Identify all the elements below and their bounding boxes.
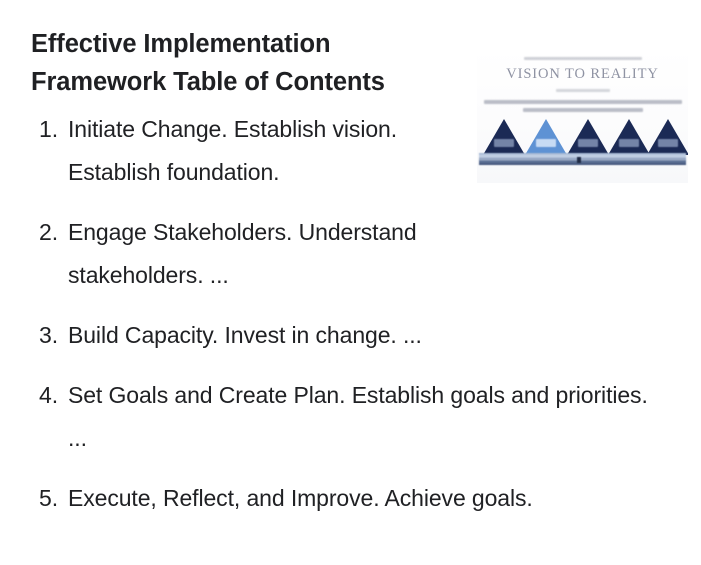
pyramid-diagram <box>477 111 688 167</box>
pyramid-shape-3 <box>567 119 609 155</box>
thumbnail-subtitle-line <box>556 89 610 92</box>
list-item[interactable]: 2. Engage Stakeholders. Understand stake… <box>0 211 701 297</box>
list-item-text: Build Capacity. Invest in change. ... <box>68 314 668 357</box>
triangle-icon <box>647 119 688 155</box>
thumbnail-heading: VISION TO REALITY <box>477 66 688 83</box>
triangle-icon <box>525 119 567 155</box>
list-item-number: 5. <box>39 477 65 520</box>
list-item-text: Execute, Reflect, and Improve. Achieve g… <box>68 477 668 520</box>
pyramid-base-bar-upper <box>479 153 686 160</box>
document-page: Effective Implementation Framework Table… <box>0 0 701 565</box>
thumbnail-eyebrow-text <box>524 57 642 60</box>
pyramid-label-chip <box>494 139 514 147</box>
list-item-number: 4. <box>39 374 65 417</box>
list-item-number: 2. <box>39 211 65 254</box>
pyramid-shape-1 <box>483 119 525 155</box>
thumbnail-canvas: VISION TO REALITY <box>477 48 688 183</box>
pyramid-shape-4 <box>608 119 650 155</box>
pyramid-label-chip <box>536 139 556 147</box>
list-item-text: Engage Stakeholders. Understand stakehol… <box>68 211 428 297</box>
pyramid-base-bar-lower <box>479 160 686 165</box>
vision-to-reality-thumbnail[interactable]: VISION TO REALITY <box>477 48 688 183</box>
pyramid-label-chip <box>619 139 639 147</box>
triangle-icon <box>483 119 525 155</box>
triangle-icon <box>608 119 650 155</box>
pyramid-shape-5 <box>647 119 688 155</box>
list-item[interactable]: 3. Build Capacity. Invest in change. ... <box>0 314 701 357</box>
page-title: Effective Implementation Framework Table… <box>31 25 451 101</box>
list-item[interactable]: 5. Execute, Reflect, and Improve. Achiev… <box>0 477 701 520</box>
list-item[interactable]: 4. Set Goals and Create Plan. Establish … <box>0 374 701 460</box>
thumbnail-body-line <box>484 100 682 104</box>
pyramid-shape-2 <box>525 119 567 155</box>
list-item-number: 1. <box>39 108 65 151</box>
list-item-text: Set Goals and Create Plan. Establish goa… <box>68 374 668 460</box>
pyramid-label-chip <box>578 139 598 147</box>
list-item-text: Initiate Change. Establish vision. Estab… <box>68 108 428 194</box>
triangle-icon <box>567 119 609 155</box>
list-item-number: 3. <box>39 314 65 357</box>
pyramid-base-notch <box>577 157 581 163</box>
pyramid-label-chip <box>658 139 678 147</box>
